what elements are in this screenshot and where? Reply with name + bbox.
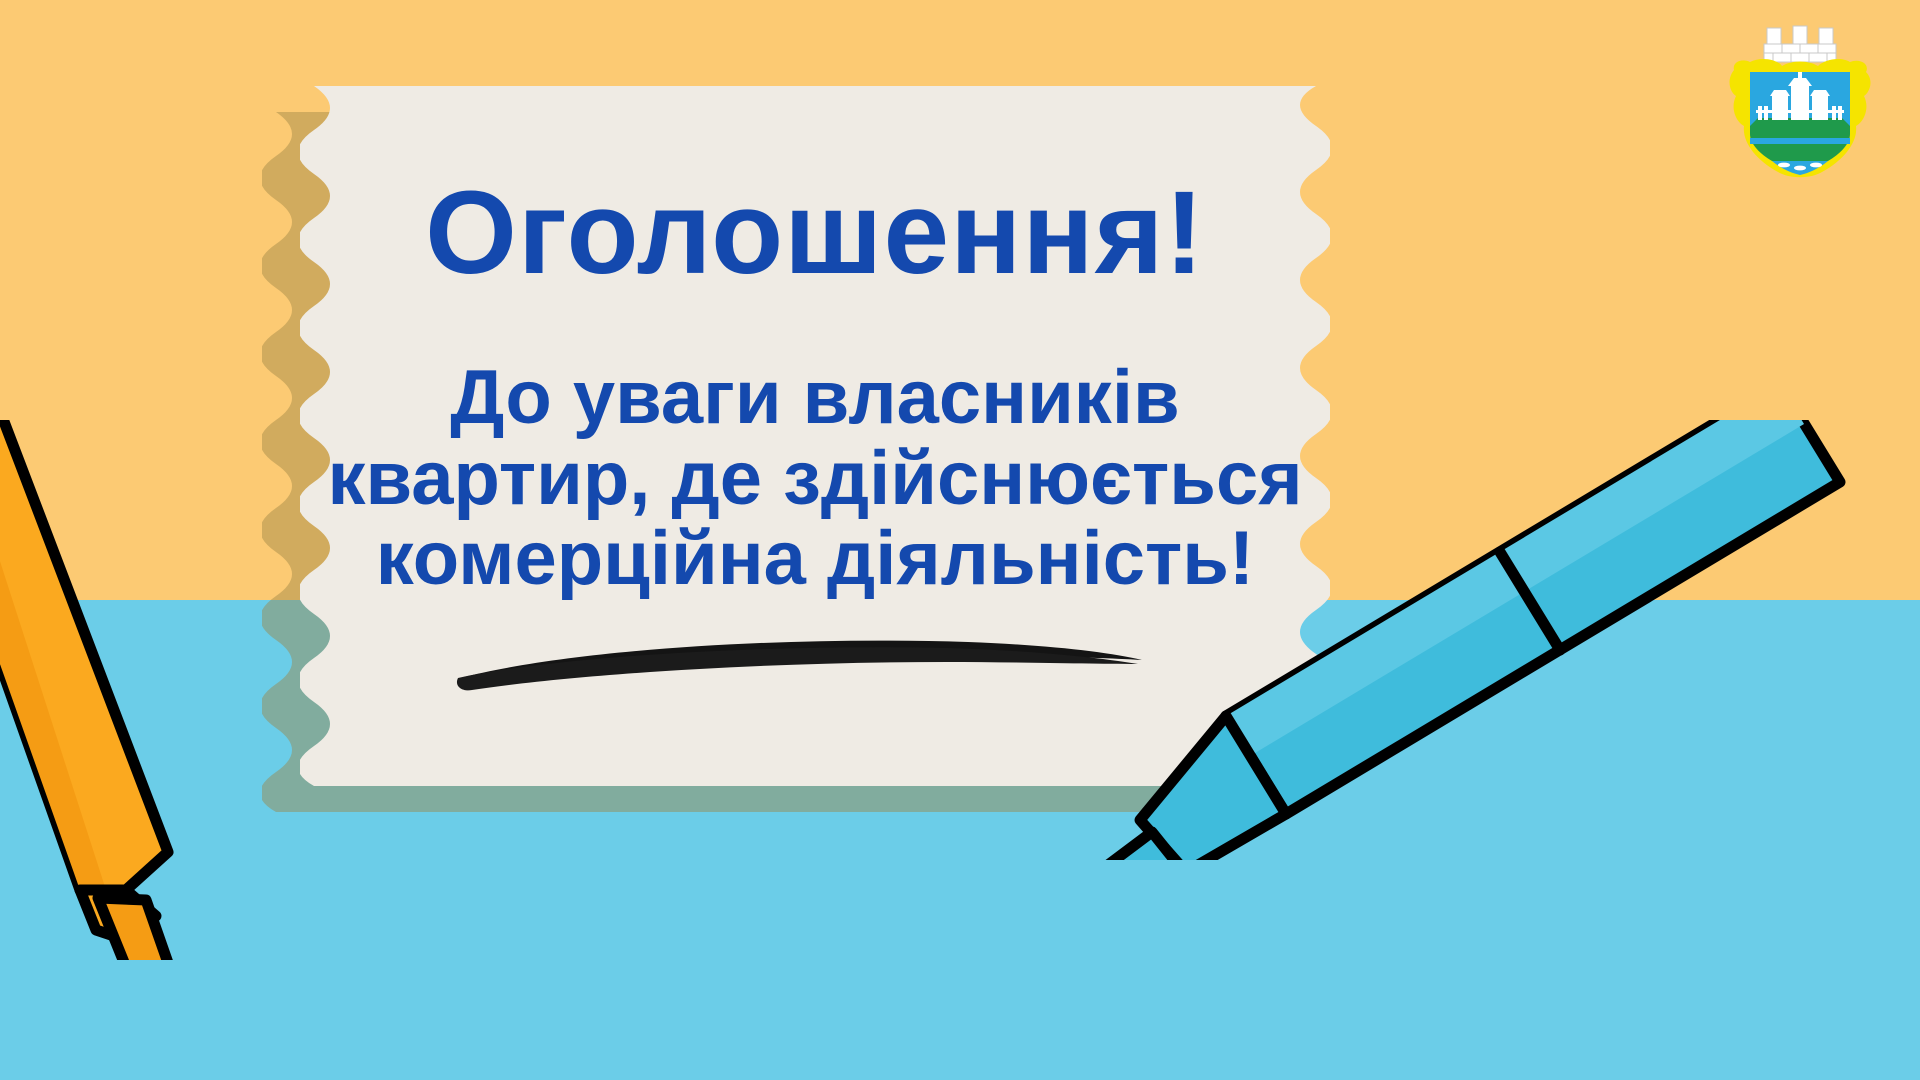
- poster-title: Оголошення!: [425, 174, 1205, 292]
- orange-pen: [0, 420, 250, 960]
- brush-underline-stroke: [448, 634, 1148, 704]
- crown-part: [1764, 26, 1836, 62]
- poster-canvas: Оголошення! До уваги власників квартир, …: [0, 0, 1920, 1080]
- coat-of-arms-icon: [1712, 22, 1888, 180]
- emblem-water-stripe: [1750, 138, 1850, 144]
- blue-pen: [1080, 420, 1920, 860]
